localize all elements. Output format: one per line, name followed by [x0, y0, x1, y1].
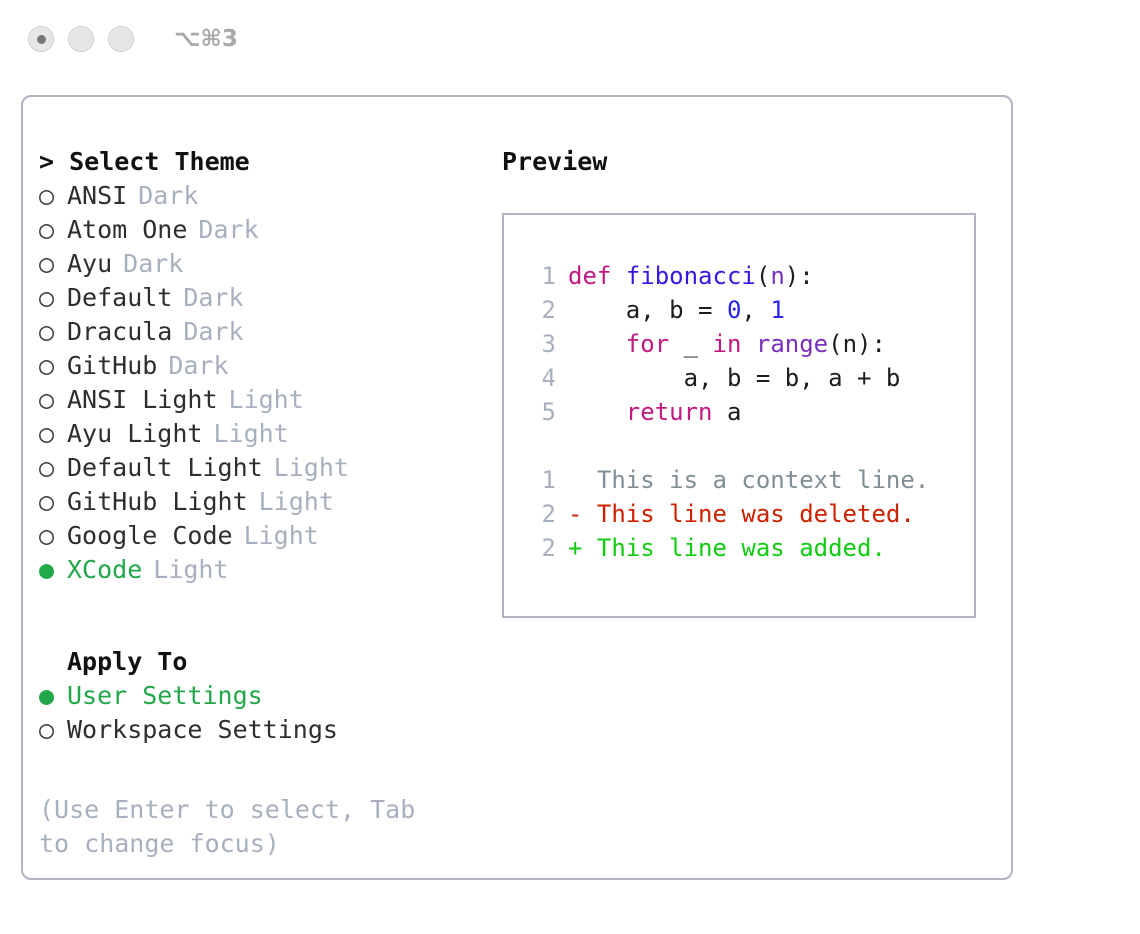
code-token [568, 330, 626, 358]
theme-variant-label: Light [229, 383, 304, 417]
theme-list-item[interactable]: ○ANSIDark [39, 179, 499, 213]
theme-variant-label: Dark [183, 315, 243, 349]
radio-unselected-icon[interactable]: ○ [39, 179, 67, 213]
keyboard-shortcut-label: ⌥⌘3 [174, 26, 238, 52]
theme-variant-label: Light [259, 485, 334, 519]
theme-list-item[interactable]: ○GitHub LightLight [39, 485, 499, 519]
diff-line-text: This line was deleted. [597, 497, 915, 531]
diff-marker [568, 463, 597, 497]
theme-name-label: GitHub Light [67, 485, 248, 519]
window-controls [28, 26, 134, 52]
preview-heading: Preview [502, 145, 1002, 179]
diff-line: 2+ This line was added. [522, 531, 974, 565]
code-token: return [626, 398, 713, 426]
code-token: 1 [770, 296, 784, 324]
code-line: 2 a, b = 0, 1 [522, 293, 974, 327]
code-token [741, 330, 755, 358]
theme-variant-label: Light [213, 417, 288, 451]
radio-unselected-icon[interactable]: ○ [39, 315, 67, 349]
diff-line-text: This is a context line. [597, 463, 929, 497]
code-line: 4 a, b = b, a + b [522, 361, 974, 395]
keyboard-hint-text: (Use Enter to select, Tab to change focu… [39, 793, 449, 861]
theme-list-item[interactable]: ○Ayu LightLight [39, 417, 499, 451]
radio-unselected-icon[interactable]: ○ [39, 213, 67, 247]
apply-to-label: Workspace Settings [67, 713, 338, 747]
code-line-text: return a [568, 395, 741, 429]
theme-list-item[interactable]: ○DefaultDark [39, 281, 499, 315]
select-theme-heading: > Select Theme [39, 145, 499, 179]
apply-to-section: Apply To ●User Settings○Workspace Settin… [39, 645, 499, 747]
apply-to-list: ●User Settings○Workspace Settings [39, 679, 499, 747]
preview-column: Preview 1def fibonacci(n):2 a, b = 0, 13… [502, 145, 1002, 618]
radio-unselected-icon[interactable]: ○ [39, 485, 67, 519]
code-token [611, 262, 625, 290]
theme-name-label: ANSI Light [67, 383, 218, 417]
app-window: ⌥⌘3 > Select Theme ○ANSIDark○Atom OneDar… [0, 0, 1140, 934]
code-line-text: a, b = b, a + b [568, 361, 900, 395]
apply-to-label: User Settings [67, 679, 263, 713]
theme-name-label: Default [67, 281, 172, 315]
theme-name-label: Google Code [67, 519, 233, 553]
code-token [568, 398, 626, 426]
theme-variant-label: Dark [123, 247, 183, 281]
line-number: 1 [522, 463, 556, 497]
diff-preview: 1 This is a context line.2- This line wa… [522, 463, 974, 565]
code-line-text: a, b = 0, 1 [568, 293, 785, 327]
theme-variant-label: Dark [198, 213, 258, 247]
theme-variant-label: Dark [138, 179, 198, 213]
code-token: for [626, 330, 669, 358]
radio-unselected-icon[interactable]: ○ [39, 383, 67, 417]
apply-to-item[interactable]: ○Workspace Settings [39, 713, 499, 747]
code-preview: 1def fibonacci(n):2 a, b = 0, 13 for _ i… [522, 259, 974, 429]
radio-selected-icon[interactable]: ● [39, 553, 67, 587]
apply-to-heading: Apply To [39, 645, 499, 679]
diff-line-text: This line was added. [597, 531, 886, 565]
line-number: 2 [522, 497, 556, 531]
code-token: 0 [727, 296, 741, 324]
theme-name-label: GitHub [67, 349, 157, 383]
radio-unselected-icon[interactable]: ○ [39, 417, 67, 451]
code-token: (n): [828, 330, 886, 358]
theme-list-item[interactable]: ○DraculaDark [39, 315, 499, 349]
theme-name-label: Ayu [67, 247, 112, 281]
code-token: ): [785, 262, 814, 290]
preview-spacer [522, 429, 974, 463]
theme-list-item[interactable]: ○Atom OneDark [39, 213, 499, 247]
radio-unselected-icon[interactable]: ○ [39, 451, 67, 485]
theme-name-label: XCode [67, 553, 142, 587]
code-token: a [713, 398, 742, 426]
theme-name-label: Atom One [67, 213, 187, 247]
theme-variant-label: Dark [183, 281, 243, 315]
code-token: ( [756, 262, 770, 290]
code-line: 3 for _ in range(n): [522, 327, 974, 361]
active-dot-icon [37, 35, 46, 44]
line-number: 3 [522, 327, 556, 361]
radio-unselected-icon[interactable]: ○ [39, 247, 67, 281]
theme-variant-label: Dark [168, 349, 228, 383]
code-line-text: for _ in range(n): [568, 327, 886, 361]
line-number: 2 [522, 293, 556, 327]
radio-selected-icon[interactable]: ● [39, 679, 67, 713]
window-control-dot-3[interactable] [108, 26, 134, 52]
theme-name-label: Dracula [67, 315, 172, 349]
code-line-text: def fibonacci(n): [568, 259, 814, 293]
radio-unselected-icon[interactable]: ○ [39, 713, 67, 747]
code-token: in [713, 330, 742, 358]
diff-marker: - [568, 497, 597, 531]
line-number: 4 [522, 361, 556, 395]
theme-list-item[interactable]: ●XCodeLight [39, 553, 499, 587]
code-token: def [568, 262, 611, 290]
code-token: fibonacci [626, 262, 756, 290]
window-control-dot-active[interactable] [28, 26, 54, 52]
code-token: _ [669, 330, 712, 358]
theme-name-label: Ayu Light [67, 417, 202, 451]
line-number: 5 [522, 395, 556, 429]
window-control-dot-2[interactable] [68, 26, 94, 52]
main-panel: > Select Theme ○ANSIDark○Atom OneDark○Ay… [21, 95, 1013, 880]
theme-list-item[interactable]: ○Default LightLight [39, 451, 499, 485]
line-number: 1 [522, 259, 556, 293]
radio-unselected-icon[interactable]: ○ [39, 281, 67, 315]
title-bar: ⌥⌘3 [0, 0, 1140, 78]
code-line: 5 return a [522, 395, 974, 429]
diff-marker: + [568, 531, 597, 565]
theme-variant-label: Light [244, 519, 319, 553]
theme-list-item[interactable]: ○Google CodeLight [39, 519, 499, 553]
theme-list-item[interactable]: ○GitHubDark [39, 349, 499, 383]
code-token: n [770, 262, 784, 290]
theme-name-label: ANSI [67, 179, 127, 213]
code-line: 1def fibonacci(n): [522, 259, 974, 293]
apply-to-item[interactable]: ●User Settings [39, 679, 499, 713]
code-token: range [756, 330, 828, 358]
theme-list-item[interactable]: ○ANSI LightLight [39, 383, 499, 417]
radio-unselected-icon[interactable]: ○ [39, 519, 67, 553]
theme-list: ○ANSIDark○Atom OneDark○AyuDark○DefaultDa… [39, 179, 499, 587]
code-token: , [741, 296, 770, 324]
theme-variant-label: Light [274, 451, 349, 485]
radio-unselected-icon[interactable]: ○ [39, 349, 67, 383]
theme-variant-label: Light [153, 553, 228, 587]
theme-picker-column: > Select Theme ○ANSIDark○Atom OneDark○Ay… [39, 145, 499, 861]
theme-name-label: Default Light [67, 451, 263, 485]
code-token: a, b = [568, 296, 727, 324]
code-token: a, b = b, a + b [568, 364, 900, 392]
theme-list-item[interactable]: ○AyuDark [39, 247, 499, 281]
preview-box: 1def fibonacci(n):2 a, b = 0, 13 for _ i… [502, 213, 976, 618]
diff-line: 2- This line was deleted. [522, 497, 974, 531]
line-number: 2 [522, 531, 556, 565]
diff-line: 1 This is a context line. [522, 463, 974, 497]
